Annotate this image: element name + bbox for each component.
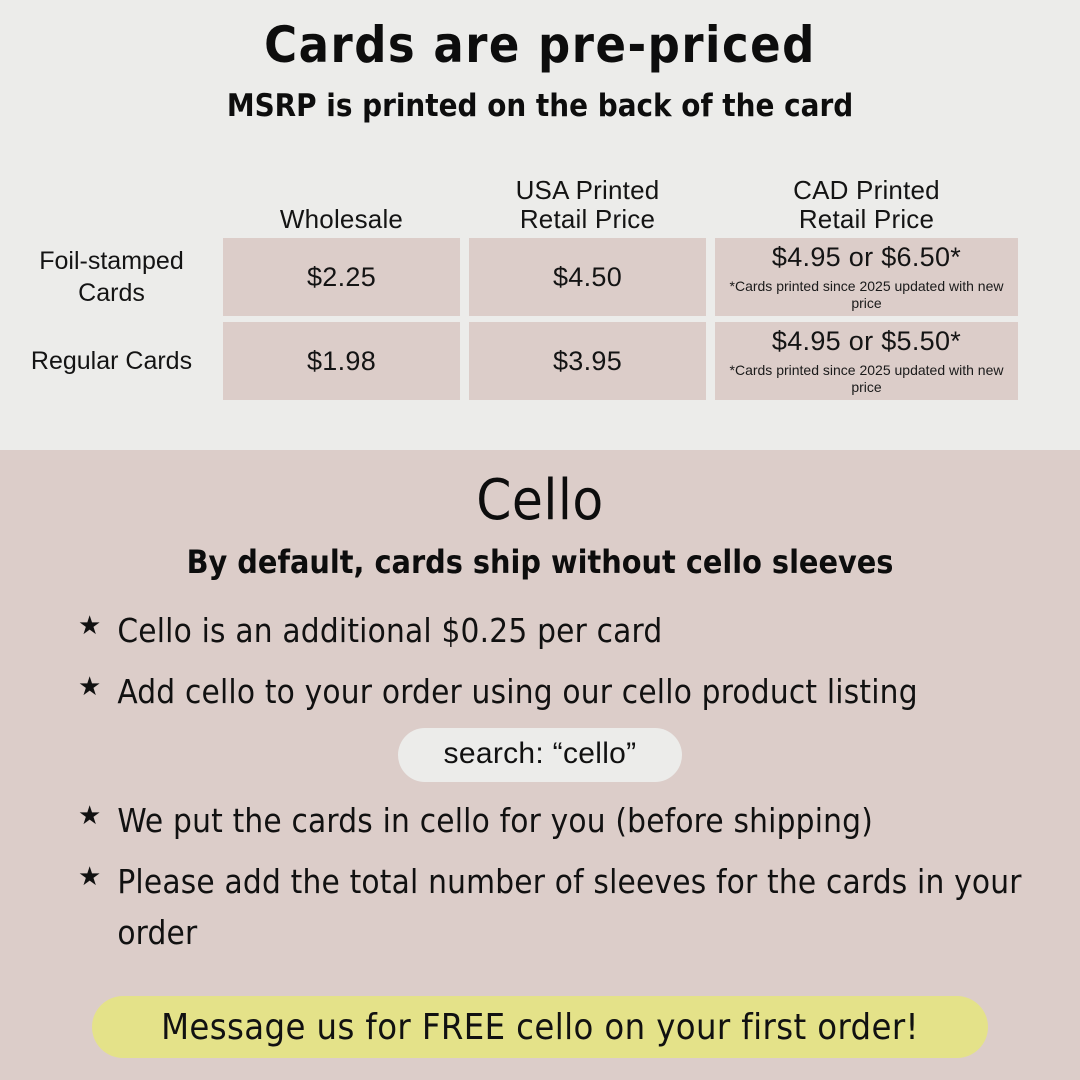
row-label-regular-cards-line1: Regular Cards <box>31 345 192 377</box>
cell-foil-wholesale: $2.25 <box>223 238 460 316</box>
cell-regular-cad-retail-note: *Cards printed since 2025 updated with n… <box>715 362 1018 395</box>
column-header-usa-line2: Retail Price <box>520 205 655 234</box>
infographic-page: Cards are pre-priced MSRP is printed on … <box>0 0 1080 1080</box>
cell-regular-cad-retail-value: $4.95 or $5.50* <box>772 326 961 357</box>
cell-foil-usa-retail: $4.50 <box>469 238 706 316</box>
column-header-cad-line1: CAD Printed <box>793 176 940 205</box>
column-header-wholesale-label: Wholesale <box>280 205 403 234</box>
list-item: ★ Add cello to your order using our cell… <box>78 667 1034 717</box>
list-item-label: Cello is an additional $0.25 per card <box>117 606 662 656</box>
list-item: ★ We put the cards in cello for you (bef… <box>78 796 1034 846</box>
table-row: Regular Cards $1.98 $3.95 $4.95 or $5.50… <box>0 322 1080 400</box>
list-item-label: Add cello to your order using our cello … <box>117 667 917 717</box>
cello-section: Cello By default, cards ship without cel… <box>0 450 1080 1080</box>
column-header-wholesale: Wholesale <box>223 205 460 238</box>
row-label-foil-stamped-line2: Cards <box>78 279 145 307</box>
search-hint-pill[interactable]: search: “cello” <box>398 728 683 782</box>
cello-subtitle: By default, cards ship without cello sle… <box>0 531 1080 580</box>
column-header-cad-line2: Retail Price <box>799 205 934 234</box>
column-header-usa-line1: USA Printed <box>516 176 660 205</box>
table-header-row: Wholesale USA Printed Retail Price CAD P… <box>0 160 1080 238</box>
cell-foil-usa-retail-value: $4.50 <box>553 262 622 293</box>
row-label-regular-cards: Regular Cards <box>0 322 223 400</box>
list-item: ★ Cello is an additional $0.25 per card <box>78 606 1034 656</box>
star-icon: ★ <box>78 606 101 645</box>
row-label-foil-stamped-line1: Foil-stamped <box>39 247 184 275</box>
pricing-section: Cards are pre-priced MSRP is printed on … <box>0 0 1080 450</box>
list-item-label: Please add the total number of sleeves f… <box>117 857 1034 957</box>
cell-regular-wholesale: $1.98 <box>223 322 460 400</box>
search-hint-wrapper: search: “cello” <box>0 728 1080 782</box>
free-cello-cta-banner[interactable]: Message us for FREE cello on your first … <box>92 996 988 1058</box>
star-icon: ★ <box>78 667 101 706</box>
cell-regular-wholesale-value: $1.98 <box>307 346 376 377</box>
row-label-foil-stamped: Foil-stamped Cards <box>0 238 223 316</box>
page-title: Cards are pre-priced <box>0 0 1080 73</box>
cell-regular-cad-retail: $4.95 or $5.50* *Cards printed since 202… <box>715 322 1018 400</box>
column-header-usa: USA Printed Retail Price <box>469 176 706 238</box>
cello-title: Cello <box>0 450 1080 531</box>
cell-foil-cad-retail: $4.95 or $6.50* *Cards printed since 202… <box>715 238 1018 316</box>
cell-foil-cad-retail-value: $4.95 or $6.50* <box>772 242 961 273</box>
cell-foil-cad-retail-note: *Cards printed since 2025 updated with n… <box>715 278 1018 311</box>
star-icon: ★ <box>78 796 101 835</box>
column-header-cad: CAD Printed Retail Price <box>715 176 1018 238</box>
cell-foil-wholesale-value: $2.25 <box>307 262 376 293</box>
star-icon: ★ <box>78 857 101 896</box>
list-item: ★ Please add the total number of sleeves… <box>78 857 1034 957</box>
pricing-table: Wholesale USA Printed Retail Price CAD P… <box>0 160 1080 406</box>
page-subtitle: MSRP is printed on the back of the card <box>0 73 1080 123</box>
table-row: Foil-stamped Cards $2.25 $4.50 $4.95 or … <box>0 238 1080 316</box>
cell-regular-usa-retail-value: $3.95 <box>553 346 622 377</box>
list-item-label: We put the cards in cello for you (befor… <box>117 796 873 846</box>
cello-bullet-list-continued: ★ We put the cards in cello for you (bef… <box>0 790 1080 957</box>
cello-bullet-list: ★ Cello is an additional $0.25 per card … <box>0 580 1080 717</box>
cta-wrapper: Message us for FREE cello on your first … <box>0 996 1080 1058</box>
cell-regular-usa-retail: $3.95 <box>469 322 706 400</box>
